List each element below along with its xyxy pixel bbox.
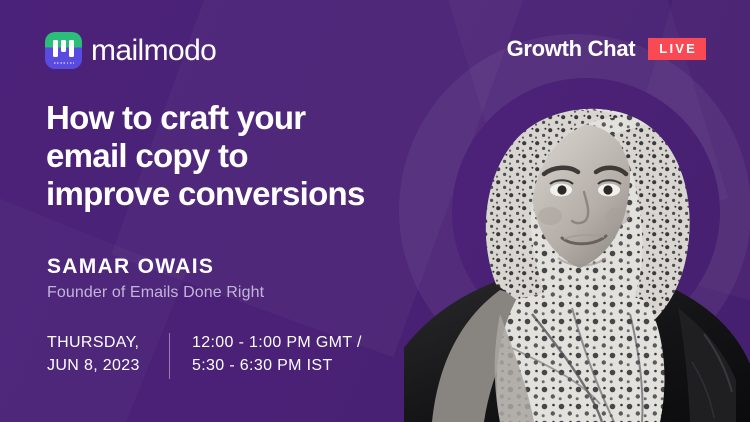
schedule-row: THURSDAY, JUN 8, 2023 12:00 - 1:00 PM GM… (47, 331, 362, 379)
mailmodo-logo-icon (45, 32, 82, 69)
schedule-time-line-2: 5:30 - 6:30 PM IST (192, 354, 362, 377)
logo-dotted-line (54, 62, 74, 64)
headline-line-1: How to craft your (46, 99, 365, 137)
schedule-date: THURSDAY, JUN 8, 2023 (47, 331, 169, 377)
schedule-time: 12:00 - 1:00 PM GMT / 5:30 - 6:30 PM IST (192, 331, 362, 377)
brand-logo[interactable]: mailmodo (45, 32, 216, 69)
schedule-divider (169, 333, 170, 379)
schedule-date-line-2: JUN 8, 2023 (47, 354, 169, 377)
speaker-portrait (404, 62, 750, 422)
headline-line-3: improve conversions (46, 175, 365, 213)
series-title: Growth Chat (507, 36, 636, 62)
webinar-promo-banner: mailmodo Growth Chat LIVE How to craft y… (0, 0, 750, 422)
headline-line-2: email copy to (46, 137, 365, 175)
schedule-time-line-1: 12:00 - 1:00 PM GMT / (192, 331, 362, 354)
speaker-role: Founder of Emails Done Right (47, 284, 264, 302)
schedule-date-line-1: THURSDAY, (47, 331, 169, 354)
webinar-headline: How to craft your email copy to improve … (46, 99, 365, 213)
series-badge-group: Growth Chat LIVE (507, 36, 706, 62)
live-badge: LIVE (648, 38, 706, 61)
speaker-name: SAMAR OWAIS (47, 255, 214, 279)
brand-name: mailmodo (91, 36, 216, 66)
